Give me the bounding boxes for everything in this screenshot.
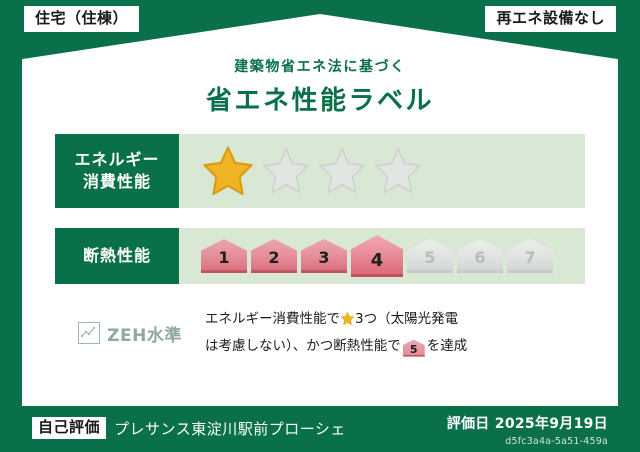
- footer-left: 自己評価 プレサンス東淀川駅前プローシェ: [32, 417, 346, 439]
- energy-label-line2: 消費性能: [83, 171, 151, 193]
- note-text-after-star: 3つ（太陽光発電: [355, 311, 458, 327]
- evaluation-id: d5fc3a4a-5a51-459a: [447, 436, 608, 447]
- star-filled-icon: [201, 144, 255, 198]
- building-name: プレサンス東淀川駅前プローシェ: [114, 418, 346, 439]
- title-subtitle: 建築物省エネ法に基づく: [0, 56, 640, 76]
- insulation-grade-6: 6: [457, 239, 503, 273]
- star-icon: [340, 311, 355, 335]
- evaluation-date: 評価日 2025年9月19日: [447, 413, 608, 433]
- star-rating: [179, 134, 585, 208]
- insulation-performance-label: 断熱性能: [55, 228, 179, 284]
- self-evaluation-badge: 自己評価: [32, 417, 106, 439]
- note-line2-after-grade: を達成: [427, 338, 468, 354]
- note-line2-before-grade: は考慮しない）、かつ断熱性能で: [205, 338, 401, 354]
- zeh-standard: ZEH水準: [55, 321, 205, 346]
- energy-label-line1: エネルギー: [74, 149, 159, 171]
- star-empty-icon: [317, 146, 367, 196]
- page-title: 省エネ性能ラベル: [0, 80, 640, 117]
- insulation-grade-5: 5: [407, 239, 453, 273]
- evaluation-date-label: 評価日: [447, 416, 490, 432]
- energy-performance-label: エネルギー 消費性能: [55, 134, 179, 208]
- note-text-before-star: エネルギー消費性能で: [205, 311, 340, 327]
- energy-label-root: 住宅（住棟） 再エネ設備なし 建築物省エネ法に基づく 省エネ性能ラベル エネルギ…: [0, 0, 640, 452]
- insulation-grade-2: 2: [251, 239, 297, 273]
- badge-building-type: 住宅（住棟）: [24, 6, 139, 32]
- star-empty-icon: [261, 146, 311, 196]
- zeh-label: ZEH水準: [107, 321, 182, 346]
- insulation-grade-scale: 1234567: [179, 228, 585, 284]
- footer-right: 評価日 2025年9月19日 d5fc3a4a-5a51-459a: [447, 413, 608, 447]
- insulation-performance-row: 断熱性能 1234567: [55, 228, 585, 284]
- zeh-note: ZEH水準 エネルギー消費性能で3つ（太陽光発電 は考慮しない）、かつ断熱性能で…: [55, 308, 585, 358]
- energy-performance-row: エネルギー 消費性能: [55, 134, 585, 208]
- insulation-grade-3: 3: [301, 239, 347, 273]
- footer: 自己評価 プレサンス東淀川駅前プローシェ 評価日 2025年9月19日 d5fc…: [0, 406, 640, 452]
- star-empty-icon: [373, 146, 423, 196]
- inline-grade-badge: 5: [403, 340, 425, 357]
- badge-renewable-energy: 再エネ設備なし: [485, 6, 616, 32]
- insulation-grade-1: 1: [201, 239, 247, 273]
- evaluation-date-value: 2025年9月19日: [495, 416, 608, 432]
- insulation-label-text: 断熱性能: [83, 245, 151, 267]
- insulation-grade-4: 4: [351, 235, 403, 277]
- zeh-chart-icon: [78, 322, 100, 344]
- achievement-description: エネルギー消費性能で3つ（太陽光発電 は考慮しない）、かつ断熱性能で5を達成: [205, 308, 585, 358]
- insulation-grade-7: 7: [507, 239, 553, 273]
